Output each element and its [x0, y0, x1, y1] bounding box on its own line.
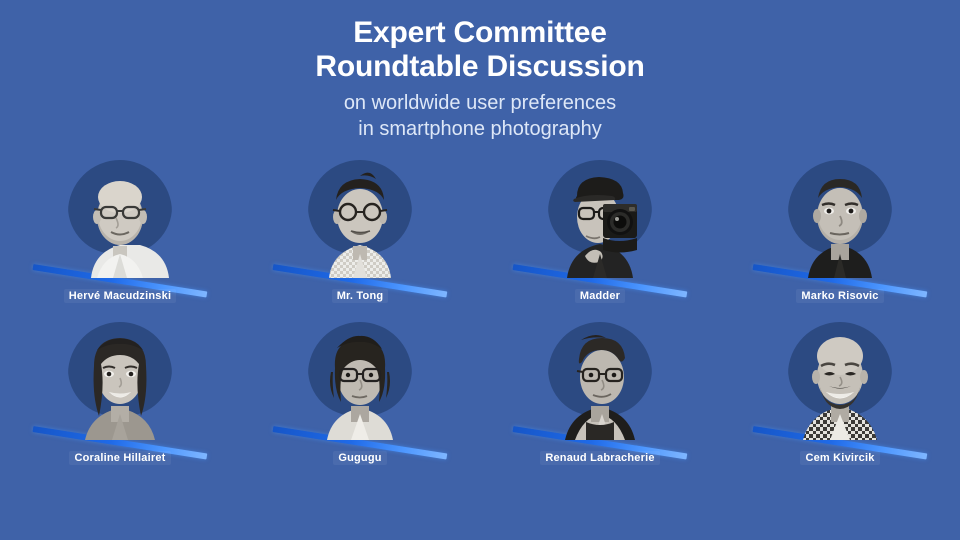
member-card: Renaud Labracherie	[480, 322, 720, 472]
portrait-gugugu	[301, 322, 419, 440]
subtitle-block: on worldwide user preferences in smartph…	[0, 90, 960, 142]
portrait-marko-risovic	[781, 160, 899, 278]
portrait-wrap	[35, 160, 205, 280]
portrait-wrap	[35, 322, 205, 442]
member-card: Marko Risovic	[720, 160, 960, 310]
portrait-coraline-hillairet	[61, 322, 179, 440]
presentation-slide: Expert Committee Roundtable Discussion o…	[0, 0, 960, 540]
member-name: Mr. Tong	[240, 290, 480, 302]
member-name: Cem Kivircik	[720, 452, 960, 464]
member-card: Coraline Hillairet	[0, 322, 240, 472]
page-subtitle-line-2: in smartphone photography	[0, 116, 960, 142]
portrait-herve-macudzinski	[61, 160, 179, 278]
member-name: Renaud Labracherie	[480, 452, 720, 464]
portrait-mr-tong	[301, 160, 419, 278]
member-name: Coraline Hillairet	[0, 452, 240, 464]
member-card: Hervé Macudzinski	[0, 160, 240, 310]
portrait-wrap	[275, 322, 445, 442]
members-grid: Hervé Macudzinski	[0, 160, 960, 472]
portrait-madder	[541, 160, 659, 278]
portrait-wrap	[755, 322, 925, 442]
member-card: Cem Kivircik	[720, 322, 960, 472]
portrait-wrap	[755, 160, 925, 280]
page-title-line-1: Expert Committee	[0, 16, 960, 50]
member-card: Madder	[480, 160, 720, 310]
member-name: Madder	[480, 290, 720, 302]
portrait-wrap	[515, 322, 685, 442]
member-card: Mr. Tong	[240, 160, 480, 310]
member-name: Gugugu	[240, 452, 480, 464]
portrait-wrap	[275, 160, 445, 280]
portrait-wrap	[515, 160, 685, 280]
member-card: Gugugu	[240, 322, 480, 472]
portrait-cem-kivircik	[781, 322, 899, 440]
member-name: Marko Risovic	[720, 290, 960, 302]
member-name: Hervé Macudzinski	[0, 290, 240, 302]
title-block: Expert Committee Roundtable Discussion o…	[0, 16, 960, 142]
page-title-line-2: Roundtable Discussion	[0, 50, 960, 84]
page-subtitle-line-1: on worldwide user preferences	[0, 90, 960, 116]
portrait-renaud-labracherie	[541, 322, 659, 440]
